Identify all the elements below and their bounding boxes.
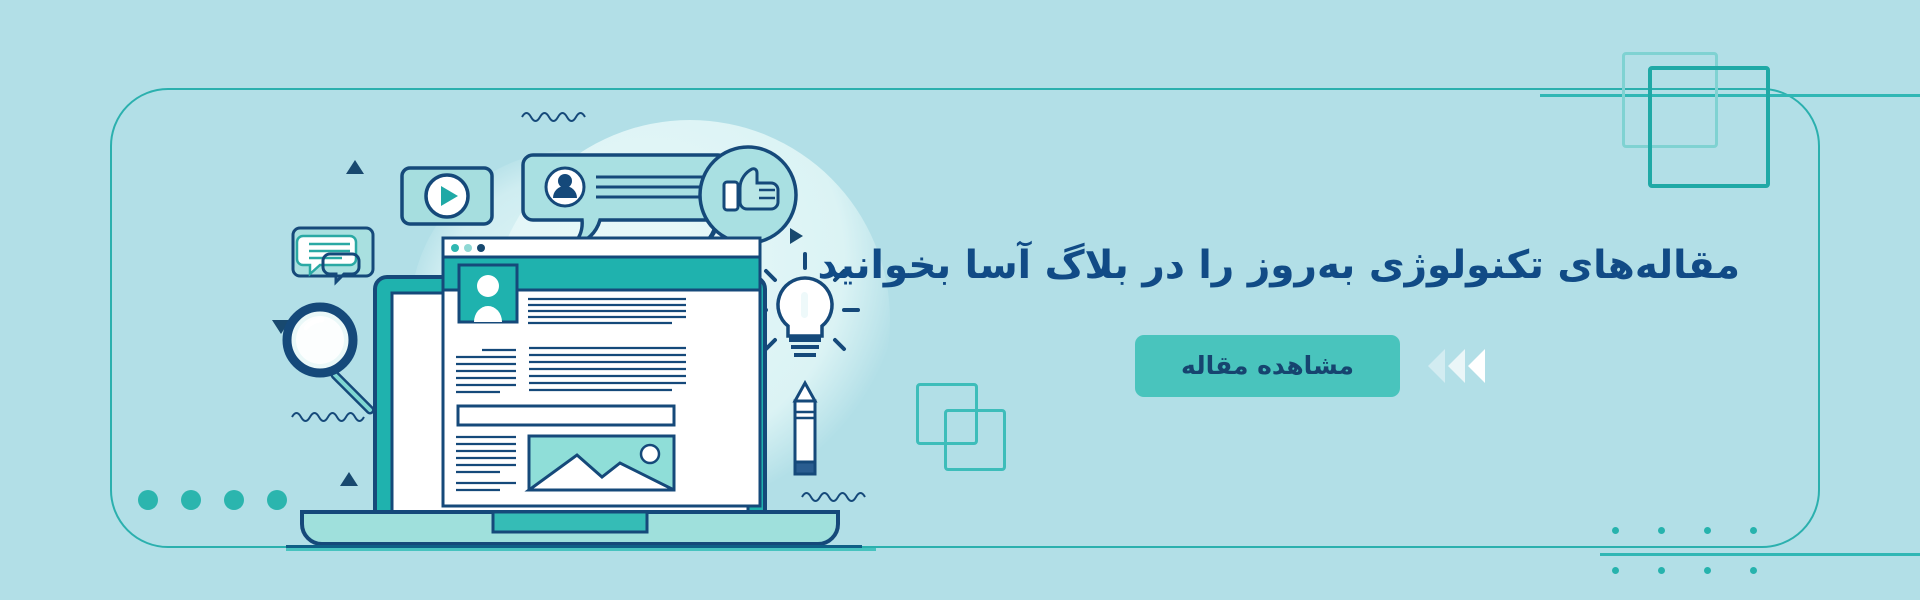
chat-bubble-icon (523, 155, 728, 246)
chevron-group (1428, 349, 1485, 383)
titlebar-dot-1 (451, 244, 459, 252)
magnifier-icon (287, 307, 370, 410)
chevron-left-icon-3 (1428, 349, 1445, 383)
titlebar-dot-2 (464, 244, 472, 252)
decor-square-dark (1648, 66, 1770, 188)
pencil-icon (795, 383, 815, 474)
laptop-blog-illustration (0, 0, 900, 600)
decor-square-mid-b (944, 409, 1006, 471)
view-article-button[interactable]: مشاهده مقاله (1135, 335, 1400, 398)
titlebar-dot-3 (477, 244, 485, 252)
chevron-left-icon-1 (1468, 349, 1485, 383)
image-placeholder-icon (529, 436, 674, 490)
video-play-icon (402, 168, 492, 224)
article-lines-left (456, 350, 516, 392)
decor-dot-grid (1612, 527, 1762, 582)
banner-text-column: مقاله‌های تکنولوژی به‌روز را در بلاگ آسا… (880, 240, 1740, 397)
article-lines-right (529, 348, 686, 390)
chevron-left-icon-2 (1448, 349, 1465, 383)
page-title: مقاله‌های تکنولوژی به‌روز را در بلاگ آسا… (880, 240, 1740, 293)
promo-banner: مقاله‌های تکنولوژی به‌روز را در بلاگ آسا… (0, 0, 1920, 600)
browser-window (443, 238, 760, 506)
search-bar (458, 406, 674, 425)
ground-line-light (286, 548, 876, 551)
cta-row: مشاهده مقاله (880, 335, 1740, 398)
comment-card-icon (232, 228, 373, 282)
